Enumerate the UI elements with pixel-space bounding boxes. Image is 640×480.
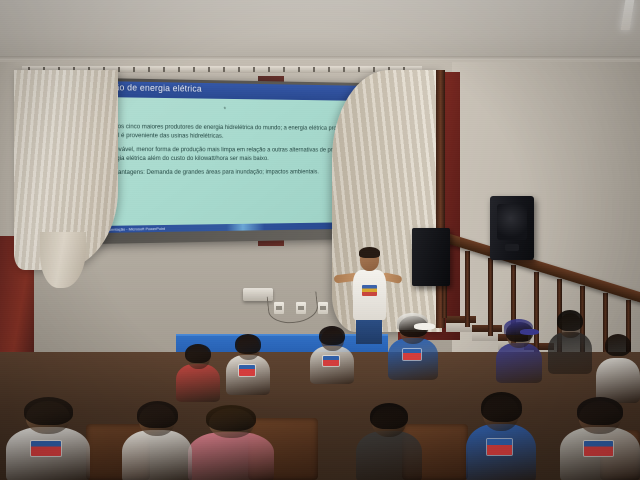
person-blue-cap [496,318,542,380]
person-blue-shirt-front [466,386,536,480]
person-white-shirt-far-right [596,330,640,400]
wall-outlet [274,302,284,314]
person-pink-shirt [188,400,274,480]
speaker-cone [497,204,527,240]
person-shirt [122,430,192,480]
person-hair [24,397,73,425]
slide-bullet: Desvantagens: Demanda de grandes áreas p… [104,168,365,177]
person-white-cap-blue-shirt [388,312,438,378]
speaker-tweeter [505,244,519,251]
person-red-shirt [176,340,220,400]
person-shirt [356,431,422,480]
person-hair [185,344,211,363]
slide-body: um dos cinco maiores produtores de energ… [104,123,365,183]
cap-brim [520,329,539,335]
photo-scene: ção de energia elétrica * um dos cinco m… [0,0,640,480]
slide-bullet: um dos cinco maiores produtores de energ… [104,123,365,142]
shirt-logo [403,349,421,360]
floor-speaker [412,228,450,286]
wall-outlet [296,302,306,314]
person-shirt [496,343,542,383]
cap-brim [414,323,435,330]
shirt-logo [31,441,61,456]
presenter-hair [359,247,380,258]
slide-marker: * [224,107,227,114]
person-hair [137,401,178,428]
shirt-logo [487,439,512,455]
person-hair [605,334,631,356]
slide-bullet: Renovável, menor forma de produção mais … [104,146,365,164]
person-hair [577,397,623,425]
person-shirt [548,332,592,374]
person-hair [319,326,345,345]
person-dark-hair-front [356,398,422,480]
person-hair [481,392,522,422]
slide-title: ção de energia elétrica [110,82,202,93]
person-hair [370,403,408,429]
person-white-shirt-mid [122,396,192,480]
pa-speaker [490,196,534,260]
shirt-logo [239,365,255,376]
wall-outlet [318,302,328,314]
presentation-slide: ção de energia elétrica * um dos cinco m… [98,81,369,233]
presenter-shirt-logo [362,285,377,296]
person-striped-left [226,330,270,392]
shirt-logo [323,356,339,366]
person-dark-shirt-right [548,306,592,372]
person-hair [206,405,256,431]
ceiling [0,0,640,62]
staircase-wall [452,62,640,362]
person-white-shirt-logo-left [6,392,90,480]
person-hair [557,310,583,331]
presenter-legs [356,318,382,344]
person-shirt [188,432,274,480]
shirt-logo [584,441,613,456]
person-hair [235,334,261,354]
person-grey-front-right [560,392,640,480]
person-center-back [310,322,354,382]
